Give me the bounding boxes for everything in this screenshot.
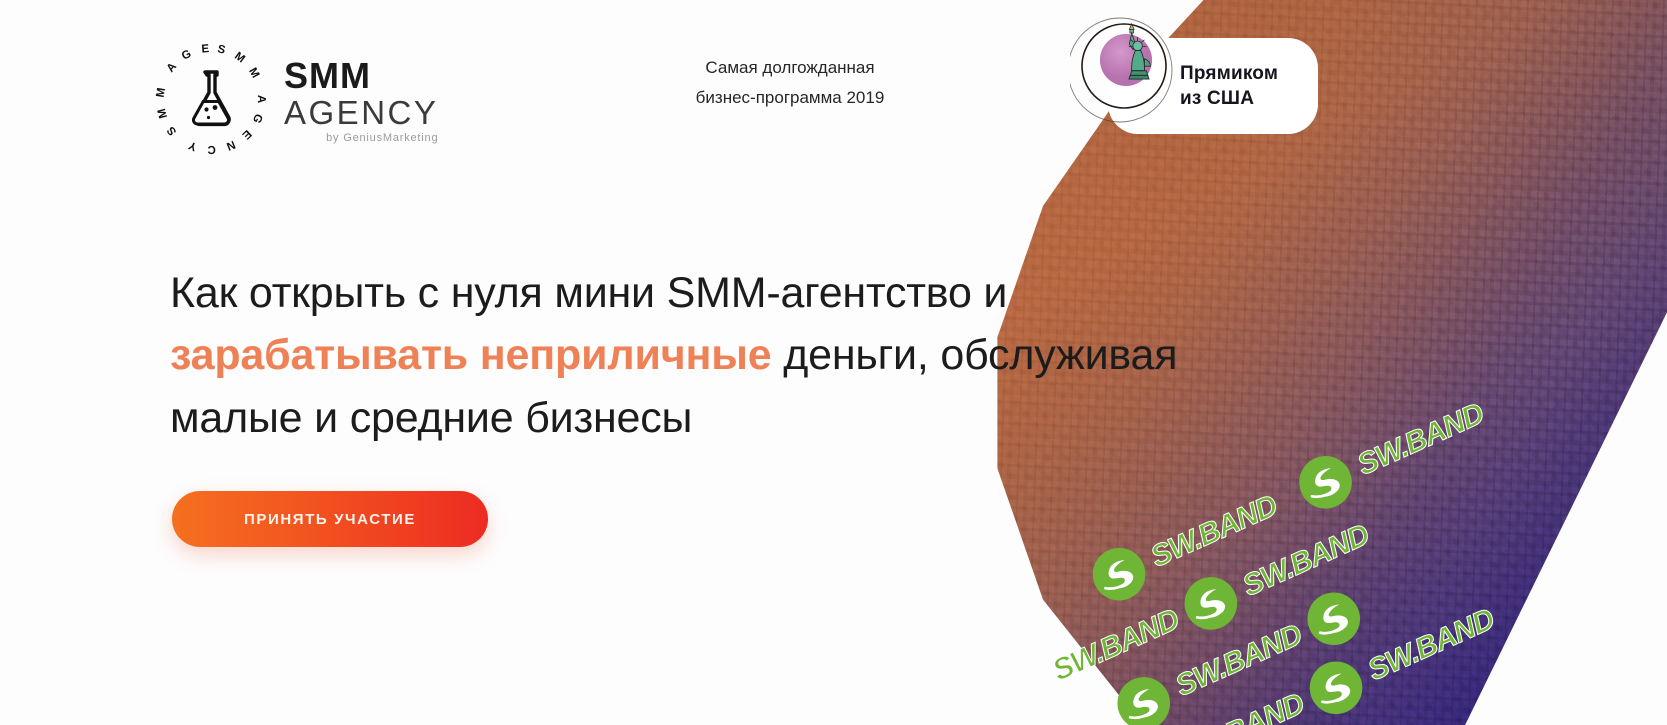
usa-badge-line2: из США: [1180, 86, 1278, 111]
page-title: Как открыть с нуля мини SMM-агентство и …: [170, 262, 1230, 449]
logo-name-line2: AGENCY: [284, 95, 438, 131]
headline-part1: Как открыть с нуля мини SMM-агентство и: [170, 269, 1007, 317]
hero-section: S M M A G E N C Y S M M A G E N C Y SMM …: [0, 0, 1667, 725]
join-button[interactable]: ПРИНЯТЬ УЧАСТИЕ: [172, 491, 488, 547]
headline-highlight: зарабатывать неприличные: [170, 331, 771, 379]
tagline-line1: Самая долгожданная: [660, 53, 920, 83]
logo-wordmark: SMM AGENCY by GeniusMarketing: [284, 54, 438, 145]
statue-of-liberty-icon: [1070, 16, 1178, 124]
tagline-line2: бизнес-программа 2019: [660, 83, 920, 113]
logo-byline: by GeniusMarketing: [284, 132, 438, 144]
logo-mark: S M M A G E N C Y S M M A G E N C Y: [152, 40, 270, 158]
logo-name-line1: SMM: [284, 58, 438, 94]
flask-icon: [183, 68, 239, 130]
brand-logo[interactable]: S M M A G E N C Y S M M A G E N C Y SMM …: [152, 40, 438, 158]
usa-badge-line1: Прямиком: [1180, 61, 1278, 86]
usa-badge-label: Прямиком из США: [1180, 61, 1278, 111]
tagline: Самая долгожданная бизнес-программа 2019: [660, 53, 920, 113]
